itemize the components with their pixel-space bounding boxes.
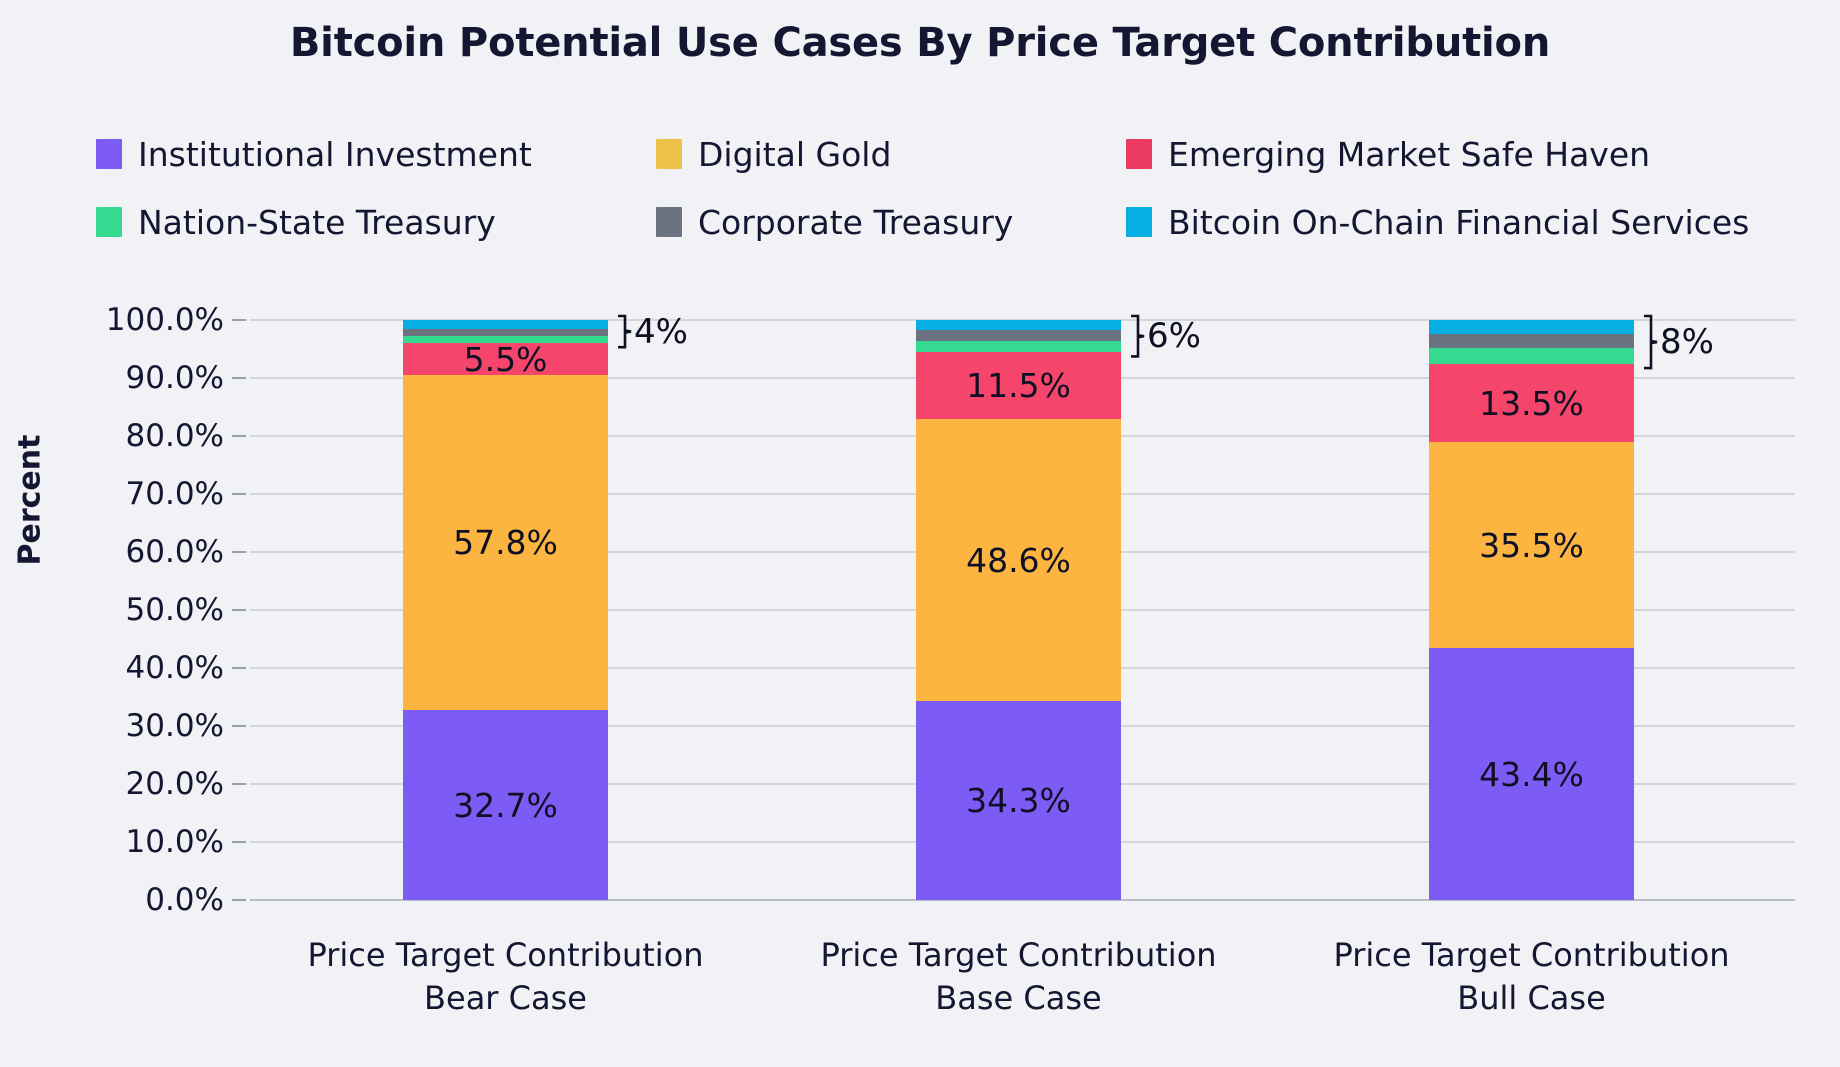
bracket-annotation-label: 8%: [1660, 325, 1714, 359]
bar-segment[interactable]: [1429, 348, 1634, 364]
bar-segment[interactable]: [916, 341, 1121, 353]
y-tick-mark: [232, 493, 246, 495]
y-tick-label: 100.0%: [44, 302, 224, 338]
category-label-line: Bull Case: [1272, 977, 1792, 1020]
y-tick-mark: [232, 609, 246, 611]
y-tick-label: 50.0%: [44, 592, 224, 628]
bar-group[interactable]: 32.7%57.8%5.5%: [403, 320, 608, 900]
y-tick-label: 80.0%: [44, 418, 224, 454]
bar-group[interactable]: 43.4%35.5%13.5%: [1429, 320, 1634, 900]
bar-segment-label: 43.4%: [1479, 758, 1584, 791]
bar-segment[interactable]: [916, 320, 1121, 330]
bar-segment-label: 5.5%: [464, 343, 548, 376]
y-tick-label: 0.0%: [44, 882, 224, 918]
bar-segment[interactable]: 48.6%: [916, 419, 1121, 701]
y-tick-label: 30.0%: [44, 708, 224, 744]
y-tick-mark: [232, 725, 246, 727]
y-tick-mark: [232, 667, 246, 669]
bar-segment[interactable]: 32.7%: [403, 710, 608, 900]
y-tick-mark: [232, 841, 246, 843]
y-tick-mark: [232, 899, 246, 901]
bar-segment[interactable]: [403, 329, 608, 336]
bar-segment[interactable]: [403, 336, 608, 344]
bar-segment[interactable]: 11.5%: [916, 352, 1121, 419]
bar-segment-label: 13.5%: [1479, 387, 1584, 420]
y-tick-mark: [232, 783, 246, 785]
bar-segment-label: 57.8%: [453, 526, 558, 559]
x-axis-category-label: Price Target ContributionBase Case: [759, 934, 1279, 1020]
y-tick-label: 10.0%: [44, 824, 224, 860]
bar-segment-label: 48.6%: [966, 544, 1071, 577]
y-tick-mark: [232, 377, 246, 379]
bar-segment[interactable]: [403, 320, 608, 329]
y-axis-title: Percent: [13, 435, 48, 566]
bar-group[interactable]: 34.3%48.6%11.5%: [916, 320, 1121, 900]
category-label-line: Price Target Contribution: [246, 934, 766, 977]
chart-page: Bitcoin Potential Use Cases By Price Tar…: [0, 0, 1840, 1067]
bar-segment[interactable]: [1429, 320, 1634, 334]
bar-segment[interactable]: [1429, 334, 1634, 349]
bar-segment[interactable]: 34.3%: [916, 701, 1121, 900]
bar-segment-label: 34.3%: [966, 784, 1071, 817]
bracket-annotation: 6%: [1129, 314, 1201, 358]
curly-brace-icon: [616, 314, 632, 349]
category-label-line: Price Target Contribution: [1272, 934, 1792, 977]
bar-segment[interactable]: 13.5%: [1429, 364, 1634, 442]
bar-segment[interactable]: [916, 330, 1121, 340]
bar-segment-label: 11.5%: [966, 369, 1071, 402]
y-tick-label: 70.0%: [44, 476, 224, 512]
bracket-annotation: 4%: [616, 314, 688, 349]
curly-brace-icon: [1129, 314, 1145, 358]
bar-segment[interactable]: 35.5%: [1429, 442, 1634, 648]
y-tick-label: 90.0%: [44, 360, 224, 396]
category-label-line: Bear Case: [246, 977, 766, 1020]
category-label-line: Base Case: [759, 977, 1279, 1020]
bar-segment-label: 32.7%: [453, 789, 558, 822]
category-label-line: Price Target Contribution: [759, 934, 1279, 977]
y-tick-label: 40.0%: [44, 650, 224, 686]
x-axis-category-label: Price Target ContributionBull Case: [1272, 934, 1792, 1020]
bracket-annotation: 8%: [1642, 314, 1714, 370]
bar-segment-label: 35.5%: [1479, 529, 1584, 562]
y-tick-mark: [232, 551, 246, 553]
bar-segment[interactable]: 5.5%: [403, 343, 608, 375]
plot-area: Percent 100.0%90.0%80.0%70.0%60.0%50.0%4…: [0, 0, 1840, 1067]
bracket-annotation-label: 4%: [634, 315, 688, 349]
curly-brace-icon: [1642, 314, 1658, 370]
y-tick-label: 20.0%: [44, 766, 224, 802]
y-tick-label: 60.0%: [44, 534, 224, 570]
bracket-annotation-label: 6%: [1147, 319, 1201, 353]
x-axis-category-label: Price Target ContributionBear Case: [246, 934, 766, 1020]
y-tick-mark: [232, 435, 246, 437]
bar-segment[interactable]: 57.8%: [403, 375, 608, 710]
y-tick-mark: [232, 319, 246, 321]
bar-segment[interactable]: 43.4%: [1429, 648, 1634, 900]
